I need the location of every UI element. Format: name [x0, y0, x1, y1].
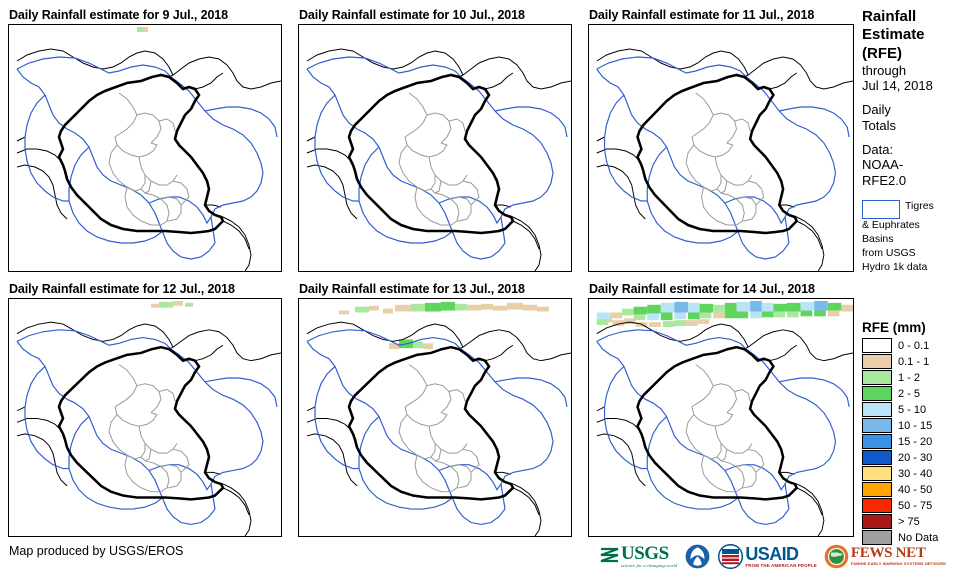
rfe-title-line2: Estimate — [862, 26, 967, 43]
panel-title-4: Daily Rainfall estimate for 12 Jul., 201… — [9, 282, 235, 296]
usgs-wordmark: USGS — [621, 544, 677, 563]
rainfall-map-graphic — [589, 299, 853, 536]
usaid-seal-icon — [718, 544, 743, 569]
rfe-legend-label: 5 - 10 — [898, 404, 926, 416]
rfe-legend-label: 15 - 20 — [898, 436, 932, 448]
rfe-legend-row: 20 - 30 — [862, 450, 967, 465]
rfe-legend-label: 40 - 50 — [898, 484, 932, 496]
rfe-legend-label: > 75 — [898, 516, 920, 528]
rfe-legend-swatch — [862, 370, 892, 385]
rfe-legend-label: 10 - 15 — [898, 420, 932, 432]
fews-logo: FEWS NET FAMINE EARLY WARNING SYSTEMS NE… — [824, 542, 946, 570]
usgs-mark-icon — [600, 545, 620, 567]
rfe-legend-swatch — [862, 386, 892, 401]
noaa-seal-icon — [684, 543, 711, 570]
basin-label-2: & Euphrates — [862, 219, 967, 233]
rfe-legend-row: 2 - 5 — [862, 386, 967, 401]
map-panel-2[interactable] — [298, 24, 572, 272]
rfe-legend-row: 0 - 0.1 — [862, 338, 967, 353]
basin-label-1: Tigres — [905, 200, 934, 214]
rfe-legend-swatch — [862, 434, 892, 449]
rfe-legend-label: 2 - 5 — [898, 388, 920, 400]
rfe-legend-row: 0.1 - 1 — [862, 354, 967, 369]
rfe-legend-swatch — [862, 338, 892, 353]
rainfall-map-graphic — [9, 25, 281, 271]
rfe-legend-label: 0.1 - 1 — [898, 356, 929, 368]
rainfall-map-graphic — [299, 25, 571, 271]
rfe-legend-row: 5 - 10 — [862, 402, 967, 417]
map-panel-3[interactable] — [588, 24, 854, 272]
fews-globe-icon — [824, 544, 849, 569]
panel-title-3: Daily Rainfall estimate for 11 Jul., 201… — [589, 8, 814, 22]
rfe-legend-row: > 75 — [862, 514, 967, 529]
panel-title-6: Daily Rainfall estimate for 14 Jul., 201… — [589, 282, 815, 296]
fews-wordmark: FEWS NET — [851, 546, 946, 561]
totals-line1: Daily — [862, 102, 967, 117]
rfe-legend-label: 1 - 2 — [898, 372, 920, 384]
map-panel-5[interactable] — [298, 298, 572, 537]
usaid-logo: USAID FROM THE AMERICAN PEOPLE — [718, 542, 816, 570]
basin-legend: Tigres & Euphrates Basins from USGS Hydr… — [862, 200, 967, 274]
rfe-legend-row: 15 - 20 — [862, 434, 967, 449]
rfe-title-line1: Rainfall — [862, 8, 967, 25]
usaid-wordmark: USAID — [745, 545, 816, 563]
rfe-legend: RFE (mm) 0 - 0.10.1 - 11 - 22 - 55 - 101… — [862, 320, 967, 546]
basin-label-3: Basins — [862, 233, 967, 247]
noaa-logo — [684, 542, 711, 570]
usgs-logo: USGS science for a changing world — [600, 542, 677, 570]
rainfall-cells — [137, 27, 148, 32]
rfe-legend-label: 30 - 40 — [898, 468, 932, 480]
map-panel-4[interactable] — [8, 298, 282, 537]
data-source-line3: RFE2.0 — [862, 173, 967, 188]
rfe-legend-row: 30 - 40 — [862, 466, 967, 481]
rfe-legend-swatch — [862, 450, 892, 465]
basin-label-5: Hydro 1k data — [862, 261, 967, 275]
basin-swatch — [862, 200, 900, 219]
rfe-legend-swatch — [862, 498, 892, 513]
rfe-legend-title: RFE (mm) — [862, 320, 967, 335]
rfe-through-label: through — [862, 63, 967, 78]
rfe-legend-label: 20 - 30 — [898, 452, 932, 464]
rfe-legend-swatch — [862, 466, 892, 481]
panel-title-5: Daily Rainfall estimate for 13 Jul., 201… — [299, 282, 525, 296]
rfe-legend-swatch — [862, 482, 892, 497]
panel-title-2: Daily Rainfall estimate for 10 Jul., 201… — [299, 8, 525, 22]
rfe-through-date: Jul 14, 2018 — [862, 78, 967, 93]
rainfall-map-graphic — [9, 299, 281, 536]
rfe-legend-row: 40 - 50 — [862, 482, 967, 497]
rfe-legend-row: 1 - 2 — [862, 370, 967, 385]
usaid-tagline: FROM THE AMERICAN PEOPLE — [745, 563, 816, 568]
rfe-legend-swatch — [862, 514, 892, 529]
rfe-legend-swatch — [862, 354, 892, 369]
rfe-legend-label: 0 - 0.1 — [898, 340, 929, 352]
panel-title-1: Daily Rainfall estimate for 9 Jul., 2018 — [9, 8, 228, 22]
agency-logos: USGS science for a changing world USAID … — [600, 540, 946, 572]
rfe-legend-swatch — [862, 418, 892, 433]
rainfall-map-graphic — [299, 299, 571, 536]
map-panel-1[interactable] — [8, 24, 282, 272]
rainfall-map-graphic — [589, 25, 853, 271]
info-column: Rainfall Estimate (RFE) through Jul 14, … — [862, 8, 967, 274]
rfe-legend-row: 50 - 75 — [862, 498, 967, 513]
rfe-legend-swatch — [862, 402, 892, 417]
usgs-tagline: science for a changing world — [621, 563, 677, 568]
fews-tagline: FAMINE EARLY WARNING SYSTEMS NETWORK — [851, 561, 946, 566]
data-source-label: Data: — [862, 142, 967, 157]
map-panel-6[interactable] — [588, 298, 854, 537]
map-credit: Map produced by USGS/EROS — [9, 544, 183, 558]
rfe-legend-row: 10 - 15 — [862, 418, 967, 433]
rfe-legend-label: 50 - 75 — [898, 500, 932, 512]
data-source-line2: NOAA- — [862, 157, 967, 172]
totals-line2: Totals — [862, 118, 967, 133]
basin-label-4: from USGS — [862, 247, 967, 261]
rfe-title-line3: (RFE) — [862, 45, 967, 62]
